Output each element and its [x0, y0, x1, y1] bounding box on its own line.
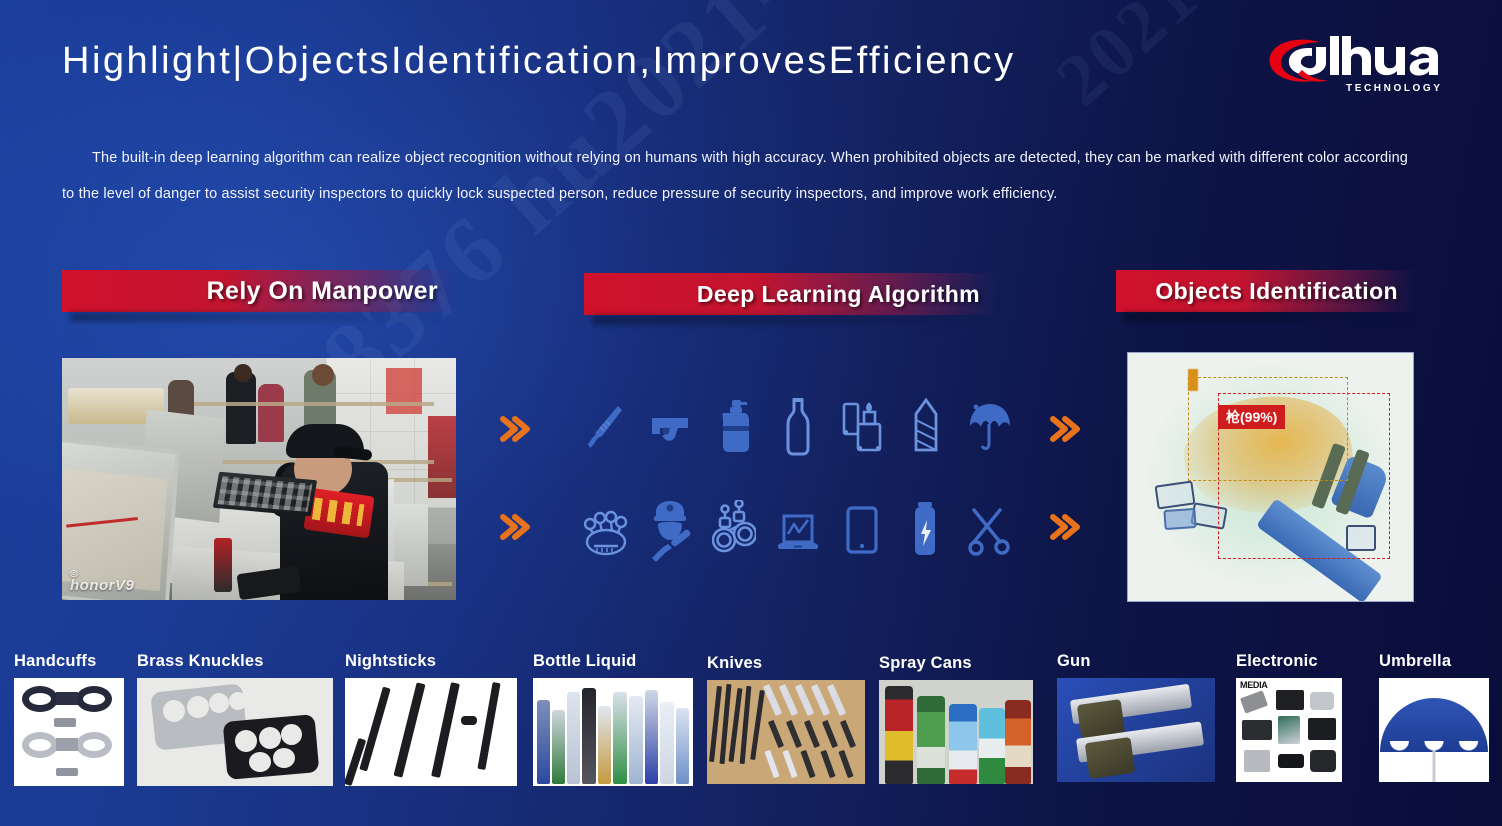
- banner-shadow: [592, 315, 992, 325]
- bottle-icon: [776, 396, 820, 458]
- thumbnail-label: Handcuffs: [14, 652, 124, 671]
- firework-icon: [904, 396, 948, 458]
- photo-walkie-talkie: [214, 538, 232, 592]
- knife-icon: [584, 396, 628, 458]
- thumbnail-label: Bottle Liquid: [533, 652, 693, 671]
- thumbnail-handcuffs[interactable]: Handcuffs: [14, 652, 124, 786]
- thumbnail-label: Nightsticks: [345, 652, 517, 671]
- police-baton-icon: [648, 500, 692, 562]
- thumbnail-label: Electronic: [1236, 652, 1342, 671]
- lighter-icon: [840, 396, 884, 458]
- thumbnail-image: [14, 678, 124, 786]
- thumbnail-nightsticks[interactable]: Nightsticks: [345, 652, 517, 786]
- banner-shadow: [1124, 312, 1412, 322]
- photo-guard-cap: [286, 424, 364, 458]
- thumbnail-image: [345, 678, 517, 786]
- banner-deep-learning-algorithm: Deep Learning Algorithm: [584, 273, 996, 315]
- dahua-logo-mark: [1262, 34, 1472, 86]
- detection-label-orange: [1188, 369, 1198, 391]
- xray-item-plate: [1163, 508, 1196, 530]
- scissors-icon: [968, 500, 1012, 562]
- prohibited-items-icon-row-2: [584, 500, 1012, 562]
- banner-label: Objects Identification: [1155, 278, 1398, 305]
- thumbnail-spray-cans[interactable]: Spray Cans: [879, 654, 1033, 784]
- thumbnail-overlay-text: MEDIA: [1240, 680, 1268, 690]
- prohibited-items-thumbnail-strip: Handcuffs Brass Knuckles: [0, 646, 1502, 826]
- thumbnail-brass-knuckles[interactable]: Brass Knuckles: [137, 652, 333, 786]
- xray-detection-photo: 枪(99%): [1127, 352, 1414, 602]
- thumbnail-bottle-liquid[interactable]: Bottle Liquid: [533, 652, 693, 786]
- brass-knuckles-icon: [584, 500, 628, 562]
- power-bank-icon: [904, 500, 948, 562]
- thumbnail-image: [879, 680, 1033, 784]
- prohibited-items-icon-row-1: [584, 396, 1012, 458]
- tablet-icon: [840, 500, 884, 562]
- pistol-icon: [648, 396, 692, 458]
- handcuffs-icon: [712, 500, 756, 562]
- thumbnail-label: Gun: [1057, 652, 1215, 671]
- banner-label: Deep Learning Algorithm: [697, 281, 980, 308]
- umbrella-pole: [1433, 750, 1436, 782]
- chevron-double-right-icon: [1048, 510, 1082, 544]
- spray-can-icon: [712, 396, 756, 458]
- chevron-double-right-icon: [498, 510, 532, 544]
- thumbnail-image: [1057, 678, 1215, 782]
- thumbnail-label: Knives: [707, 654, 865, 673]
- dahua-logo-tagline: TECHNOLOGY: [1346, 83, 1443, 94]
- body-paragraph: The built-in deep learning algorithm can…: [62, 140, 1422, 212]
- thumbnail-umbrella[interactable]: Umbrella: [1379, 652, 1489, 782]
- photo-device-watermark: ◎ honorV9: [70, 569, 134, 594]
- banner-objects-identification: Objects Identification: [1116, 270, 1414, 312]
- banner-shadow: [70, 312, 450, 322]
- umbrella-canopy: [1380, 698, 1488, 752]
- umbrella-icon: [968, 396, 1012, 458]
- dahua-logo: TECHNOLOGY: [1262, 34, 1472, 96]
- thumbnail-electronic[interactable]: Electronic MEDIA: [1236, 652, 1342, 782]
- thumbnail-label: Brass Knuckles: [137, 652, 333, 671]
- thumbnail-image: [1379, 678, 1489, 782]
- thumbnail-image: [707, 680, 865, 784]
- thumbnail-gun[interactable]: Gun: [1057, 652, 1215, 782]
- thumbnail-knives[interactable]: Knives: [707, 654, 865, 784]
- chevron-double-right-icon: [498, 412, 532, 446]
- slide-root: 8376 hu2021-01-26 2021-01-26 Highlight|O…: [0, 0, 1502, 826]
- photo-device-watermark-icon: ◎: [70, 569, 134, 577]
- laptop-icon: [776, 500, 820, 562]
- detection-label-red: 枪(99%): [1218, 405, 1285, 429]
- thumbnail-image: [137, 678, 333, 786]
- thumbnail-image: [533, 678, 693, 786]
- banner-rely-on-manpower: Rely On Manpower: [62, 270, 454, 312]
- thumbnail-label: Spray Cans: [879, 654, 1033, 673]
- thumbnail-label: Umbrella: [1379, 652, 1489, 671]
- security-checkpoint-photo: ◎ honorV9: [62, 358, 456, 600]
- banner-label: Rely On Manpower: [207, 277, 438, 306]
- thumbnail-image: MEDIA: [1236, 678, 1342, 782]
- chevron-double-right-icon: [1048, 412, 1082, 446]
- page-title: Highlight|ObjectsIdentification,Improves…: [62, 40, 1016, 83]
